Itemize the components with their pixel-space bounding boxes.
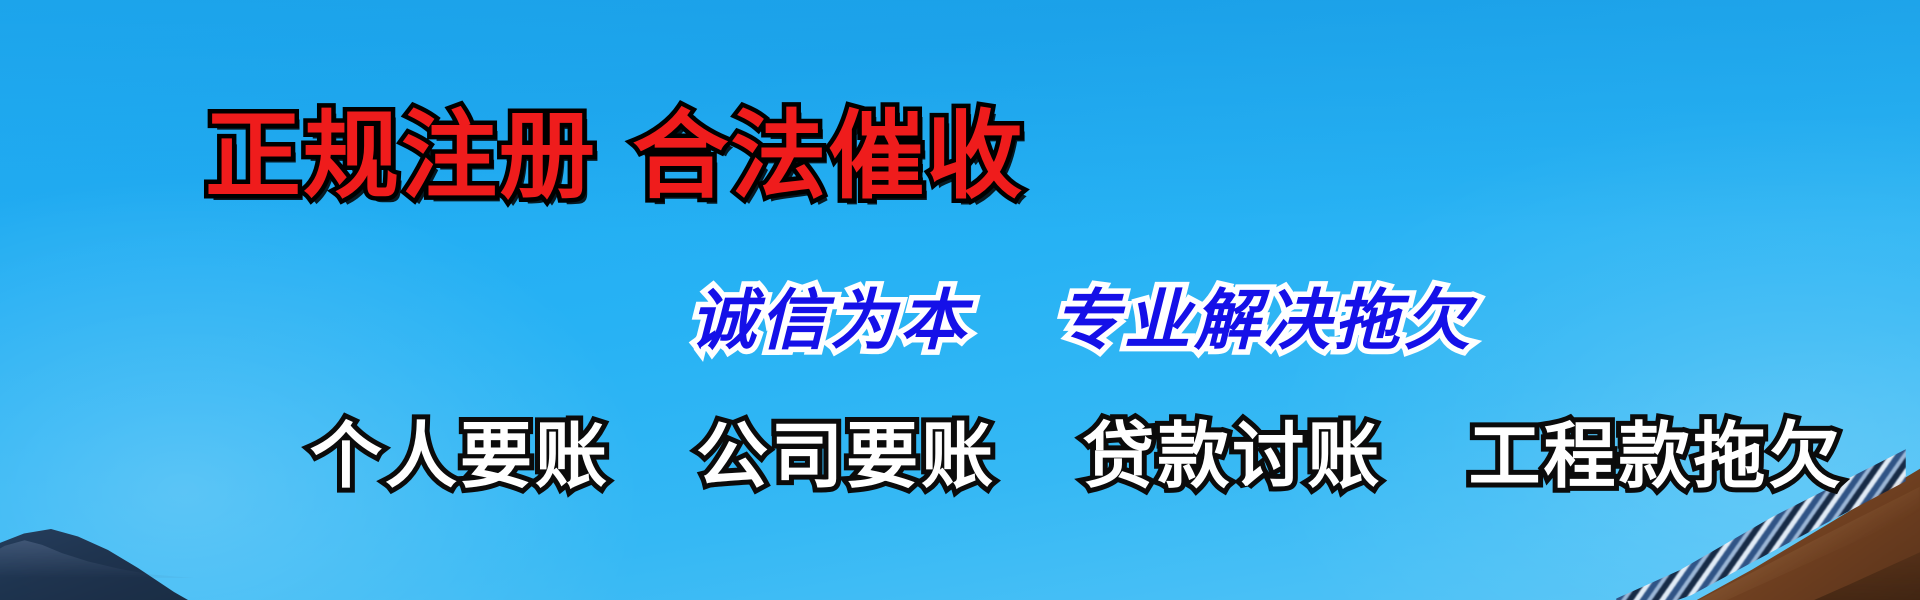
service-item-2: 公司要账 — [696, 414, 996, 498]
banner-services-list: 个人要账 公司要账 贷款讨账 工程款拖欠 — [310, 420, 1844, 492]
service-item-3: 贷款讨账 — [1082, 414, 1382, 498]
banner-headline: 正规注册 合法催收 — [205, 108, 1024, 204]
subline-part-2: 专业解决拖欠 — [1054, 282, 1474, 359]
subline-part-1: 诚信为本 — [690, 282, 970, 359]
banner-text-stack: 正规注册 合法催收 诚信为本 专业解决拖欠 个人要账 公司要账 贷款讨账 工程款… — [0, 0, 1920, 600]
banner-subline: 诚信为本 专业解决拖欠 — [690, 288, 1474, 354]
service-item-1: 个人要账 — [310, 414, 610, 498]
service-item-4: 工程款拖欠 — [1469, 414, 1844, 498]
promo-banner: 正规注册 合法催收 诚信为本 专业解决拖欠 个人要账 公司要账 贷款讨账 工程款… — [0, 0, 1920, 600]
